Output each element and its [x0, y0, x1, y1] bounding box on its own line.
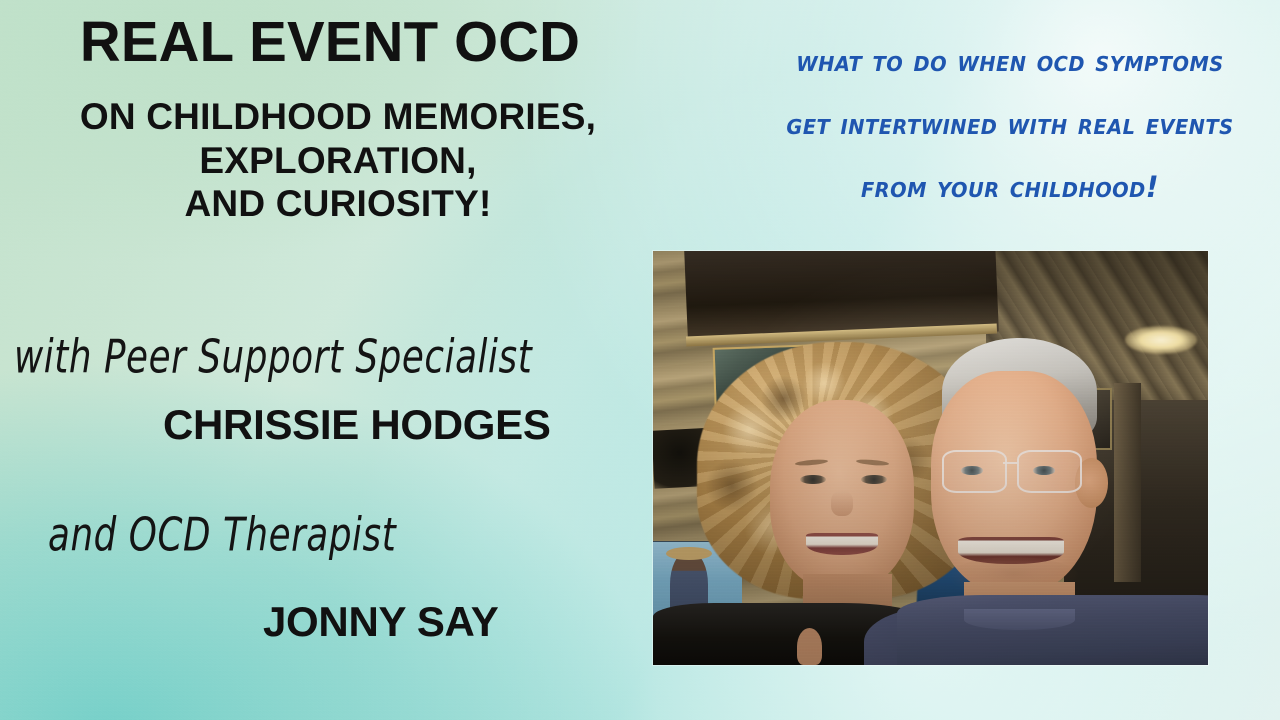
promo-description: What to do When OCD Symptoms get intertw…	[748, 30, 1272, 220]
promo-line-3: from your childhood!	[756, 156, 1264, 219]
subtitle-line-2: EXPLORATION,	[0, 139, 750, 183]
guest-photo	[653, 251, 1208, 665]
promo-line-2: get intertwined with real events	[756, 93, 1264, 156]
page-subtitle: ON CHILDHOOD MEMORIES, EXPLORATION, AND …	[0, 95, 750, 226]
video-thumbnail-canvas: REAL EVENT OCD ON CHILDHOOD MEMORIES, EX…	[0, 0, 1280, 720]
credit-role-chrissie: with Peer Support Specialist	[14, 330, 532, 384]
subtitle-line-3: AND CURIOSITY!	[0, 182, 750, 226]
promo-line-1: What to do When OCD Symptoms	[756, 30, 1264, 93]
subtitle-line-1: ON CHILDHOOD MEMORIES,	[0, 95, 750, 139]
credit-name-chrissie: CHRISSIE HODGES	[163, 401, 551, 449]
photo-grain-texture	[653, 251, 1208, 665]
credit-name-jonny: JONNY SAY	[263, 598, 498, 646]
page-title: REAL EVENT OCD	[3, 14, 656, 71]
credit-role-jonny: and OCD Therapist	[48, 508, 396, 562]
